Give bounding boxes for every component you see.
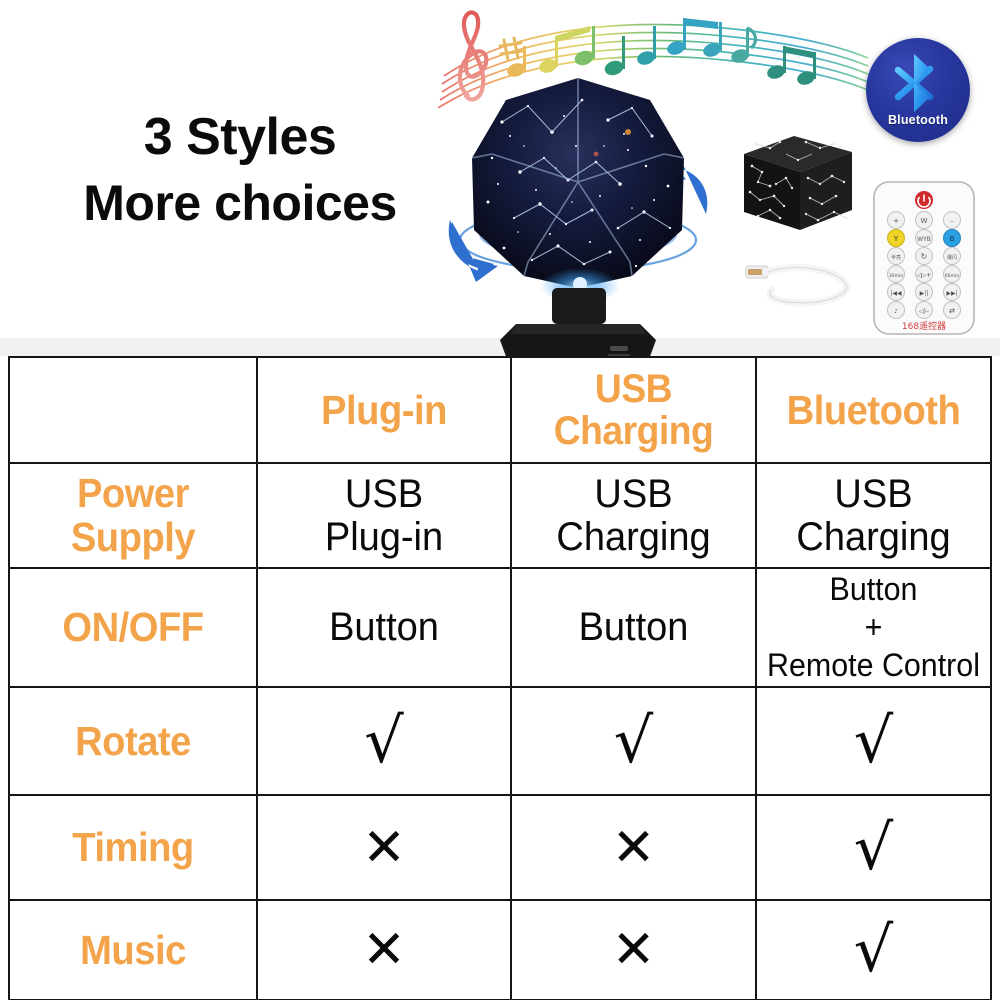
header-cell-usb-charging: USB Charging <box>511 357 756 463</box>
check-icon: √ <box>854 817 894 879</box>
table-header-row: Plug-in USB Charging Bluetooth <box>9 357 991 463</box>
row-label-cell-timing: Timing <box>9 795 257 900</box>
bluetooth-badge-label: Bluetooth <box>866 113 970 127</box>
cell-power-supply-usb-charging: USB Charging <box>511 463 756 568</box>
cell-timing-bluetooth: √ <box>756 795 991 900</box>
svg-text:60min: 60min <box>945 273 960 279</box>
product-comparison-page: 3 Styles More choices <box>0 0 1000 1000</box>
row-label-music: Music <box>22 929 243 972</box>
value-on-off-bluetooth: Button + Remote Control <box>767 571 981 684</box>
cell-rotate-usb-charging: √ <box>511 687 756 795</box>
row-label-cell-on-off: ON/OFF <box>9 568 257 687</box>
cell-music-bluetooth: √ <box>756 900 991 1000</box>
cross-icon: ✕ <box>362 822 406 874</box>
star-projector-lamp-image <box>432 62 724 358</box>
svg-text:30min: 30min <box>889 273 904 279</box>
svg-text:▶||: ▶|| <box>920 290 929 297</box>
svg-text:B: B <box>950 235 955 243</box>
svg-text:▶▶|: ▶▶| <box>946 290 957 297</box>
cell-music-usb-charging: ✕ <box>511 900 756 1000</box>
row-label-cell-music: Music <box>9 900 257 1000</box>
svg-text:168遥控器: 168遥控器 <box>902 320 946 332</box>
header-label-usb-charging: USB Charging <box>524 368 743 453</box>
cell-rotate-plug-in: √ <box>257 687 511 795</box>
row-label-rotate: Rotate <box>22 720 243 763</box>
row-label-cell-power-supply: Power Supply <box>9 463 257 568</box>
header-cell-plug-in: Plug-in <box>257 357 511 463</box>
cell-timing-plug-in: ✕ <box>257 795 511 900</box>
cell-on-off-plug-in: Button <box>257 568 511 687</box>
table-row-music: Music ✕ ✕ √ <box>9 900 991 1000</box>
value-on-off-usb-charging: Button <box>522 606 745 648</box>
svg-text:⇄: ⇄ <box>949 307 955 315</box>
headline-line-1: 3 Styles <box>40 104 440 171</box>
value-on-off-plug-in: Button <box>268 606 500 648</box>
svg-text:WYB: WYB <box>917 236 931 243</box>
bluetooth-badge: Bluetooth <box>866 38 970 142</box>
row-label-power-supply: Power Supply <box>22 472 243 559</box>
cross-icon: ✕ <box>612 822 656 874</box>
hero-section: 3 Styles More choices <box>0 0 1000 356</box>
cell-timing-usb-charging: ✕ <box>511 795 756 900</box>
svg-text:Y: Y <box>893 235 899 243</box>
headline-line-2: More choices <box>40 171 440 235</box>
usb-cable-image <box>742 250 862 312</box>
cell-on-off-usb-charging: Button <box>511 568 756 687</box>
constellation-gift-box-image <box>736 126 858 241</box>
check-icon: √ <box>364 710 404 772</box>
cross-icon: ✕ <box>362 924 406 976</box>
value-power-supply-usb-charging: USB Charging <box>522 473 745 558</box>
svg-text:W: W <box>921 217 928 225</box>
svg-text:◁▷+: ◁▷+ <box>917 272 931 279</box>
check-icon: √ <box>854 710 894 772</box>
check-icon: √ <box>614 710 654 772</box>
header-cell-blank <box>9 357 257 463</box>
table-row-power-supply: Power Supply USB Plug-in USB Charging US… <box>9 463 991 568</box>
value-power-supply-bluetooth: USB Charging <box>767 473 981 558</box>
svg-text:+: + <box>893 217 899 225</box>
row-label-on-off: ON/OFF <box>22 606 243 649</box>
row-label-cell-rotate: Rotate <box>9 687 257 795</box>
cell-music-plug-in: ✕ <box>257 900 511 1000</box>
header-label-bluetooth: Bluetooth <box>769 390 978 431</box>
svg-text:◁)–: ◁)– <box>919 308 929 315</box>
table-row-timing: Timing ✕ ✕ √ <box>9 795 991 900</box>
comparison-table: Plug-in USB Charging Bluetooth Power Sup… <box>8 356 992 1000</box>
svg-text:–: – <box>950 217 954 225</box>
bluetooth-icon <box>892 52 944 114</box>
cell-rotate-bluetooth: √ <box>756 687 991 795</box>
remote-control-image: +W– Y WYB B 半亮 ↻ 爆闪 30min ◁▷+ 60min |◀◀ … <box>868 178 980 338</box>
svg-text:|◀◀: |◀◀ <box>890 290 902 297</box>
svg-text:半亮: 半亮 <box>891 254 901 261</box>
cell-power-supply-plug-in: USB Plug-in <box>257 463 511 568</box>
row-label-timing: Timing <box>22 826 243 869</box>
headline: 3 Styles More choices <box>40 104 440 235</box>
svg-text:爆闪: 爆闪 <box>947 254 957 261</box>
value-power-supply-plug-in: USB Plug-in <box>268 473 500 558</box>
cell-on-off-bluetooth: Button + Remote Control <box>756 568 991 687</box>
svg-text:↻: ↻ <box>921 252 928 261</box>
header-label-plug-in: Plug-in <box>271 390 498 431</box>
table-row-rotate: Rotate √ √ √ <box>9 687 991 795</box>
check-icon: √ <box>854 919 894 981</box>
cross-icon: ✕ <box>612 924 656 976</box>
cell-power-supply-bluetooth: USB Charging <box>756 463 991 568</box>
svg-text:♪: ♪ <box>894 308 898 315</box>
header-cell-bluetooth: Bluetooth <box>756 357 991 463</box>
table-row-on-off: ON/OFF Button Button Button + Remote Con… <box>9 568 991 687</box>
